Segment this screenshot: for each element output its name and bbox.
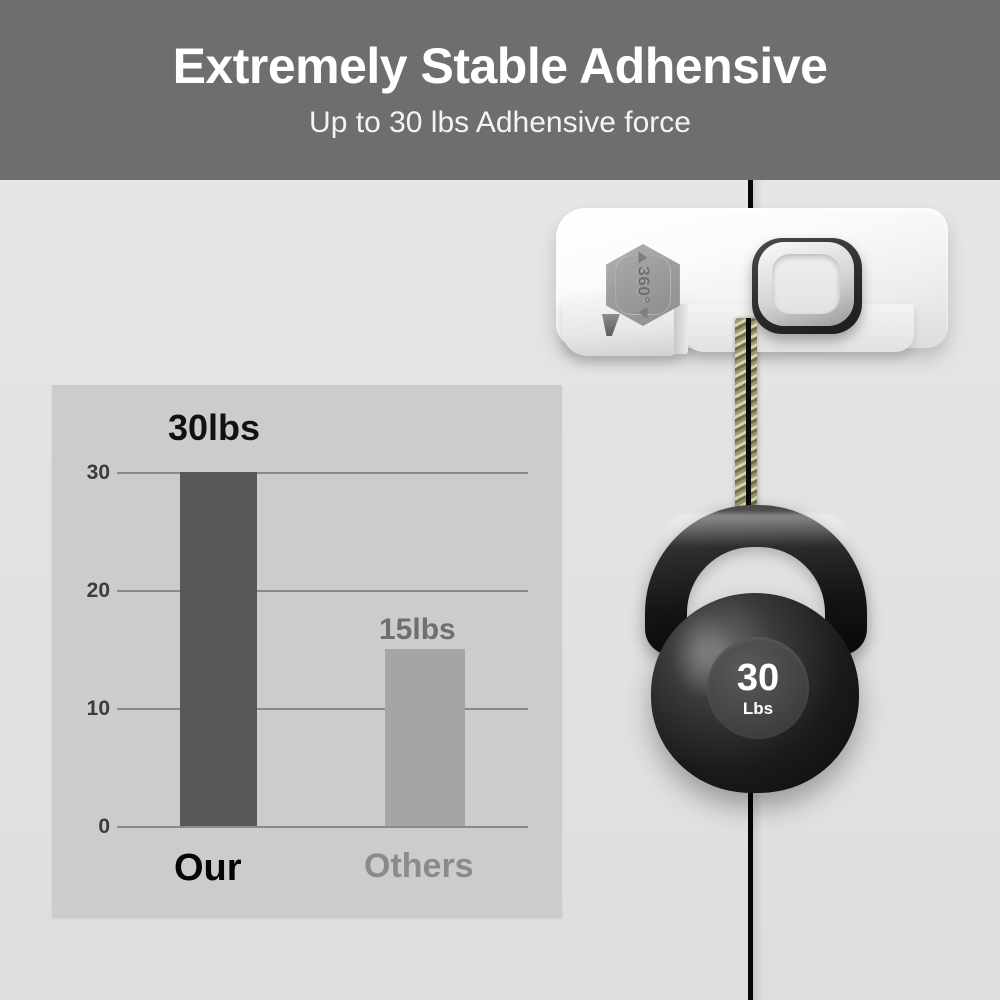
ytick-label-30: 30 [64, 461, 110, 485]
ytick-label-20: 20 [64, 579, 110, 603]
gridline-20 [117, 590, 528, 592]
knob-arrow-up-icon [639, 252, 648, 264]
bar-value-others: 15lbs [379, 613, 456, 647]
page-title: Extremely Stable Adhensive [173, 40, 828, 93]
knob-rotation-label: 360° [633, 266, 653, 303]
category-label-our: Our [174, 847, 242, 890]
ytick-label-10: 10 [64, 697, 110, 721]
bar-our [180, 472, 257, 826]
ytick-label-0: 0 [64, 815, 110, 839]
product-infographic: Extremely Stable Adhensive Up to 30 lbs … [0, 0, 1000, 1000]
comparison-bar-chart: 30 20 10 0 30lbs 15lbs Our Others [52, 385, 562, 918]
category-label-others: Others [364, 847, 474, 886]
header-banner: Extremely Stable Adhensive Up to 30 lbs … [0, 0, 1000, 180]
kettlebell-handle-highlight [663, 513, 849, 547]
bar-others [385, 649, 465, 826]
bar-value-our: 30lbs [168, 407, 260, 449]
page-subtitle: Up to 30 lbs Adhensive force [309, 106, 691, 140]
kettlebell-weight-plate: 30 Lbs [707, 637, 809, 739]
knob-arrow-down-icon [639, 307, 648, 319]
rotation-knob: 360° [602, 244, 684, 326]
gridline-30 [117, 472, 528, 474]
chart-plot-area: 30 20 10 0 30lbs 15lbs Our Others [52, 385, 562, 918]
kettlebell-weight-number: 30 [737, 659, 779, 697]
kettlebell: 30 Lbs [635, 505, 875, 795]
gridline-0 [117, 826, 528, 828]
kettlebell-weight-unit: Lbs [743, 700, 773, 717]
gridline-10 [117, 708, 528, 710]
hook-loop-opening [772, 254, 840, 314]
